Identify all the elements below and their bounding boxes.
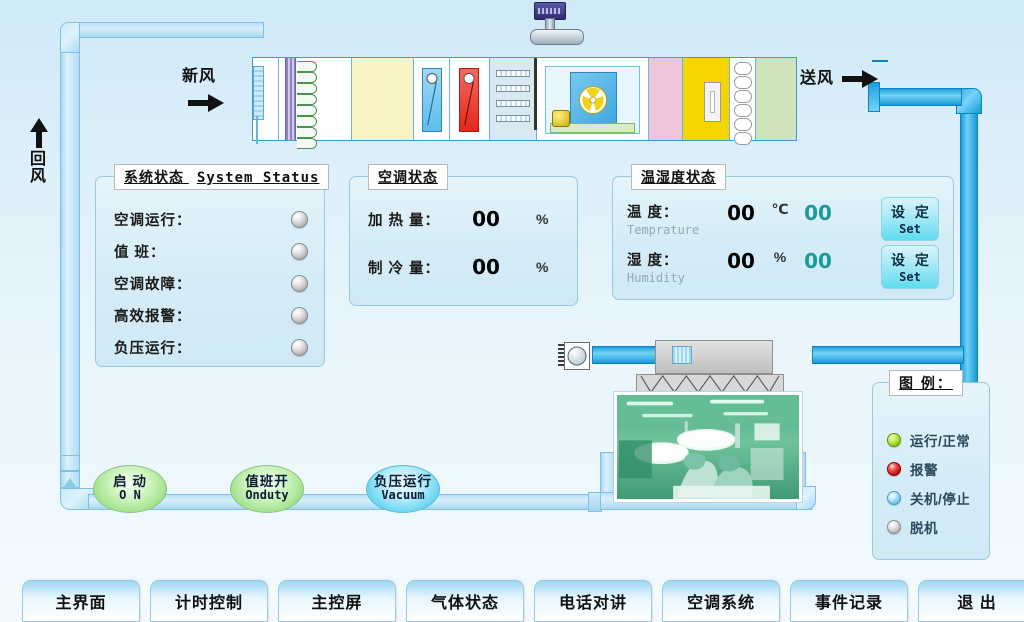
ahu-fan-section xyxy=(537,58,648,140)
status-row-ac-fault: 空调故障： xyxy=(114,273,308,294)
ac-unit-heating: % xyxy=(536,211,548,227)
grey-lamp-icon xyxy=(887,520,901,534)
red-lamp-icon xyxy=(887,462,901,476)
nav-label: 主控屏 xyxy=(311,589,362,613)
operating-room-photo xyxy=(614,392,802,502)
spring-coil-icon xyxy=(734,62,752,136)
th-row-temperature: 温 度： Temprature 00 ℃ 00 xyxy=(627,201,839,237)
legend-panel: 图 例： 运行/正常 报警 关机/停止 脱机 xyxy=(872,382,990,560)
status-label: 值 班： xyxy=(114,241,166,262)
fan-enclosure xyxy=(545,66,639,134)
th-setpoint-temperature: 00 xyxy=(797,201,839,225)
duct-return-to-ahu xyxy=(812,346,964,364)
ac-row-heating: 加 热 量： 00 % xyxy=(368,207,548,231)
duct-left-vertical xyxy=(60,52,80,488)
nav-label: 电话对讲 xyxy=(559,589,627,613)
legend-item-running: 运行/正常 xyxy=(887,425,970,454)
system-status-panel: 系统状态 System Status 空调运行： 值 班： 空调故障： 高效报警… xyxy=(95,176,325,367)
ahu-cooling-coil-section xyxy=(414,58,450,140)
fan-housing xyxy=(564,342,590,370)
ac-label-cooling: 制 冷 量： xyxy=(368,257,460,278)
ac-value-heating: 00 xyxy=(460,207,512,231)
filter-media-icon xyxy=(285,58,296,140)
legend-label-offline: 脱机 xyxy=(910,517,938,537)
duct-bottom-horizontal xyxy=(88,494,618,510)
nav-label: 退 出 xyxy=(957,589,996,613)
system-status-title: 系统状态 System Status xyxy=(114,164,329,190)
start-on-button-en: O N xyxy=(119,489,141,502)
ac-label-heating: 加 热 量： xyxy=(368,209,460,230)
temp-humidity-title: 温湿度状态 xyxy=(631,164,726,190)
return-air-label: 回风 xyxy=(30,152,48,186)
access-door-icon xyxy=(704,82,721,122)
th-setpoint-humidity: 00 xyxy=(797,249,839,273)
status-lamp-ac-fault[interactable] xyxy=(291,275,308,292)
ac-status-panel: 空调状态 加 热 量： 00 % 制 冷 量： 00 % xyxy=(349,176,578,306)
steam-control-valve xyxy=(524,2,586,58)
duct-supply-stub xyxy=(872,60,888,62)
ahu-pink-filter-section xyxy=(649,58,683,140)
onduty-button-en: Onduty xyxy=(245,489,288,502)
nav-label: 事件记录 xyxy=(815,589,883,613)
ahu-heating-coil-section xyxy=(450,58,490,140)
fan-hub-icon xyxy=(568,347,587,366)
fresh-air-label: 新风 xyxy=(182,62,216,86)
set-temperature-button[interactable]: 设 定 Set xyxy=(881,197,939,241)
legend-item-offline: 脱机 xyxy=(887,512,970,541)
nav-button-intercom[interactable]: 电话对讲 xyxy=(534,580,652,622)
nav-button-hvac-system[interactable]: 空调系统 xyxy=(662,580,780,622)
legend-label-running: 运行/正常 xyxy=(910,430,970,450)
th-unit-humidity: % xyxy=(763,249,797,265)
ac-value-cooling: 00 xyxy=(460,255,512,279)
nav-label: 主界面 xyxy=(55,589,106,613)
steam-dropleg-icon xyxy=(534,58,537,130)
nav-button-gas-status[interactable]: 气体状态 xyxy=(406,580,524,622)
green-lamp-icon xyxy=(887,433,901,447)
blue-lamp-icon xyxy=(887,491,901,505)
system-status-title-cn: 系统状态 xyxy=(124,169,184,185)
vacuum-button[interactable]: 负压运行 Vacuum xyxy=(366,465,440,513)
th-value-temperature: 00 xyxy=(719,201,763,225)
legend-title: 图 例： xyxy=(889,370,963,396)
supply-air-arrow-icon xyxy=(842,68,880,90)
damper-stem-icon xyxy=(256,116,258,144)
set-temperature-button-en: Set xyxy=(899,222,921,236)
status-row-hepa-alarm: 高效报警： xyxy=(114,305,308,326)
start-on-button-cn: 启 动 xyxy=(113,475,147,489)
ac-row-cooling: 制 冷 量： 00 % xyxy=(368,255,548,279)
nav-button-timer-control[interactable]: 计时控制 xyxy=(150,580,268,622)
supply-air-label: 送风 xyxy=(800,64,834,88)
status-lamp-onduty[interactable] xyxy=(291,243,308,260)
fresh-air-arrow-icon xyxy=(188,92,226,114)
status-lamp-hepa-alarm[interactable] xyxy=(291,307,308,324)
th-row-humidity: 湿 度： Humidity 00 % 00 xyxy=(627,249,839,285)
legend-label-alarm: 报警 xyxy=(910,459,938,479)
legend-item-alarm: 报警 xyxy=(887,454,970,483)
th-value-humidity: 00 xyxy=(719,249,763,273)
coil-diagonal-icon xyxy=(426,81,438,127)
duct-flex-connector xyxy=(672,346,692,364)
temp-humidity-panel: 温湿度状态 温 度： Temprature 00 ℃ 00 设 定 Set 湿 … xyxy=(612,176,954,300)
nav-button-exit[interactable]: 退 出 xyxy=(918,580,1024,622)
ahu-outlet-section xyxy=(756,58,796,140)
onduty-button-cn: 值班开 xyxy=(245,475,289,489)
set-humidity-button-en: Set xyxy=(899,270,921,284)
status-row-ac-run: 空调运行： xyxy=(114,209,308,230)
set-temperature-button-cn: 设 定 xyxy=(888,202,932,222)
th-label-temperature-en: Temprature xyxy=(627,223,719,237)
coil-loops-icon xyxy=(297,61,317,137)
ahu-humidifier-section xyxy=(352,58,414,140)
ac-unit-cooling: % xyxy=(536,259,548,275)
th-label-humidity-en: Humidity xyxy=(627,271,719,285)
status-label: 空调运行： xyxy=(114,209,192,230)
heating-coil-icon xyxy=(459,68,479,132)
fan-blades-icon xyxy=(579,86,607,114)
coil-diagonal-icon xyxy=(463,81,475,127)
legend-label-stopped: 关机/停止 xyxy=(910,488,970,508)
damper-line xyxy=(60,470,80,472)
status-label: 高效报警： xyxy=(114,305,192,326)
set-humidity-button[interactable]: 设 定 Set xyxy=(881,245,939,289)
nav-label: 气体状态 xyxy=(431,589,499,613)
ahu-prefilter-section xyxy=(279,58,353,140)
valve-body-icon xyxy=(530,29,584,45)
steam-pipes-icon xyxy=(496,70,530,130)
start-on-button[interactable]: 启 动 O N xyxy=(93,465,167,513)
vacuum-button-cn: 负压运行 xyxy=(374,475,432,489)
fan-motor-icon xyxy=(552,110,570,127)
th-unit-temperature: ℃ xyxy=(763,201,797,218)
status-lamp-ac-run[interactable] xyxy=(291,211,308,228)
bottom-navigation-bar: 主界面 计时控制 主控屏 气体状态 电话对讲 空调系统 事件记录 退 出 xyxy=(0,580,1024,622)
return-fan xyxy=(558,342,590,370)
cooling-coil-icon xyxy=(422,68,442,132)
status-row-negative-pressure: 负压运行： xyxy=(114,337,308,358)
system-status-title-en: System Status xyxy=(197,170,320,186)
return-air-arrow-icon xyxy=(28,118,50,150)
th-label-humidity-cn: 湿 度： xyxy=(627,249,719,270)
nav-label: 空调系统 xyxy=(687,589,755,613)
legend-item-stopped: 关机/停止 xyxy=(887,483,970,512)
status-label: 空调故障： xyxy=(114,273,192,294)
status-row-onduty: 值 班： xyxy=(114,241,308,262)
set-humidity-button-cn: 设 定 xyxy=(888,250,932,270)
th-label-temperature-cn: 温 度： xyxy=(627,201,719,222)
nav-button-event-log[interactable]: 事件记录 xyxy=(790,580,908,622)
hvac-monitor-screen: 新风 送风 回风 系统状态 System Status 空调运行： 值 班： 空… xyxy=(0,0,1024,622)
air-handling-unit xyxy=(252,57,797,141)
ahu-access-door-section xyxy=(683,58,731,140)
ahu-steam-section xyxy=(490,58,538,140)
vacuum-button-en: Vacuum xyxy=(381,489,424,502)
status-lamp-negative-pressure[interactable] xyxy=(291,339,308,356)
ac-status-title: 空调状态 xyxy=(368,164,448,190)
ahu-inlet-damper-section xyxy=(253,58,279,140)
damper-blades-icon xyxy=(253,66,264,120)
ahu-spring-coil-section xyxy=(730,58,756,140)
nav-button-main-screen[interactable]: 主界面 xyxy=(22,580,140,622)
duct-corner-top-left xyxy=(60,22,80,56)
duct-top-horizontal xyxy=(78,22,264,38)
onduty-button[interactable]: 值班开 Onduty xyxy=(230,465,304,513)
duct-supply-top xyxy=(868,88,962,106)
status-label: 负压运行： xyxy=(114,337,192,358)
duct-joint-line xyxy=(60,455,80,456)
nav-button-main-panel[interactable]: 主控屏 xyxy=(278,580,396,622)
nav-label: 计时控制 xyxy=(175,589,243,613)
